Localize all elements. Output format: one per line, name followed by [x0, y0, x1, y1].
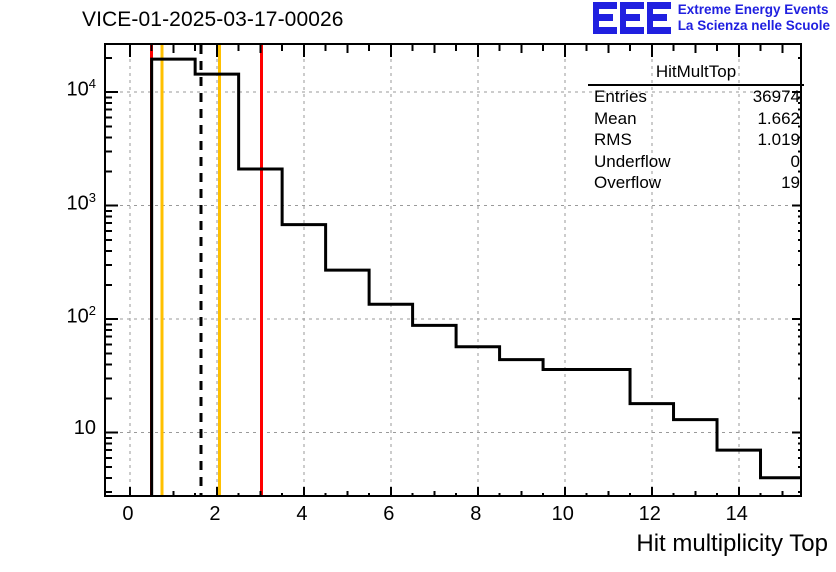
eee-logo: Extreme Energy Events La Scienza nelle S…	[593, 2, 830, 34]
y-tick-label: 104	[67, 76, 96, 102]
x-tick-label: 6	[369, 503, 409, 526]
eee-logo-line1: Extreme Energy Events	[678, 2, 830, 18]
x-tick-label: 8	[456, 503, 496, 526]
page-title: VICE-01-2025-03-17-00026	[82, 8, 344, 32]
x-tick-label: 0	[108, 503, 148, 526]
stats-row-label: Overflow	[594, 172, 661, 194]
x-tick-label: 2	[195, 503, 235, 526]
x-axis-title: Hit multiplicity Top	[636, 530, 828, 558]
stats-row: Mean1.662	[588, 108, 804, 130]
stats-row-label: Mean	[594, 108, 637, 130]
x-tick-label: 4	[282, 503, 322, 526]
x-tick-label: 12	[630, 503, 670, 526]
y-tick-label: 103	[67, 190, 96, 216]
eee-letter-3-icon	[647, 2, 671, 34]
root-canvas: VICE-01-2025-03-17-00026 Extreme Energy …	[0, 0, 836, 572]
stats-row-label: Underflow	[594, 151, 671, 173]
stats-row: Overflow19	[588, 172, 804, 194]
stats-rows: Entries36974Mean1.662RMS1.019Underflow0O…	[588, 86, 804, 194]
eee-logo-text: Extreme Energy Events La Scienza nelle S…	[678, 2, 830, 34]
stats-row-value: 0	[791, 151, 800, 173]
stats-row-value: 19	[781, 172, 800, 194]
eee-mark-icon	[593, 2, 671, 34]
eee-letter-2-icon	[620, 2, 644, 34]
x-tick-label: 10	[543, 503, 583, 526]
y-tick-label: 102	[67, 303, 96, 329]
stats-row-value: 1.662	[757, 108, 800, 130]
stats-row-label: RMS	[594, 129, 632, 151]
eee-logo-line2: La Scienza nelle Scuole	[678, 18, 830, 34]
stats-row: Entries36974	[588, 86, 804, 108]
x-tick-label: 14	[717, 503, 757, 526]
stats-title: HitMultTop	[588, 62, 804, 86]
stats-row: RMS1.019	[588, 129, 804, 151]
stats-row-value: 36974	[753, 86, 800, 108]
eee-letter-1-icon	[593, 2, 617, 34]
y-tick-label: 10	[74, 417, 96, 440]
stats-row-label: Entries	[594, 86, 647, 108]
stats-row: Underflow0	[588, 151, 804, 173]
stats-row-value: 1.019	[757, 129, 800, 151]
stats-box: HitMultTop Entries36974Mean1.662RMS1.019…	[588, 62, 804, 194]
